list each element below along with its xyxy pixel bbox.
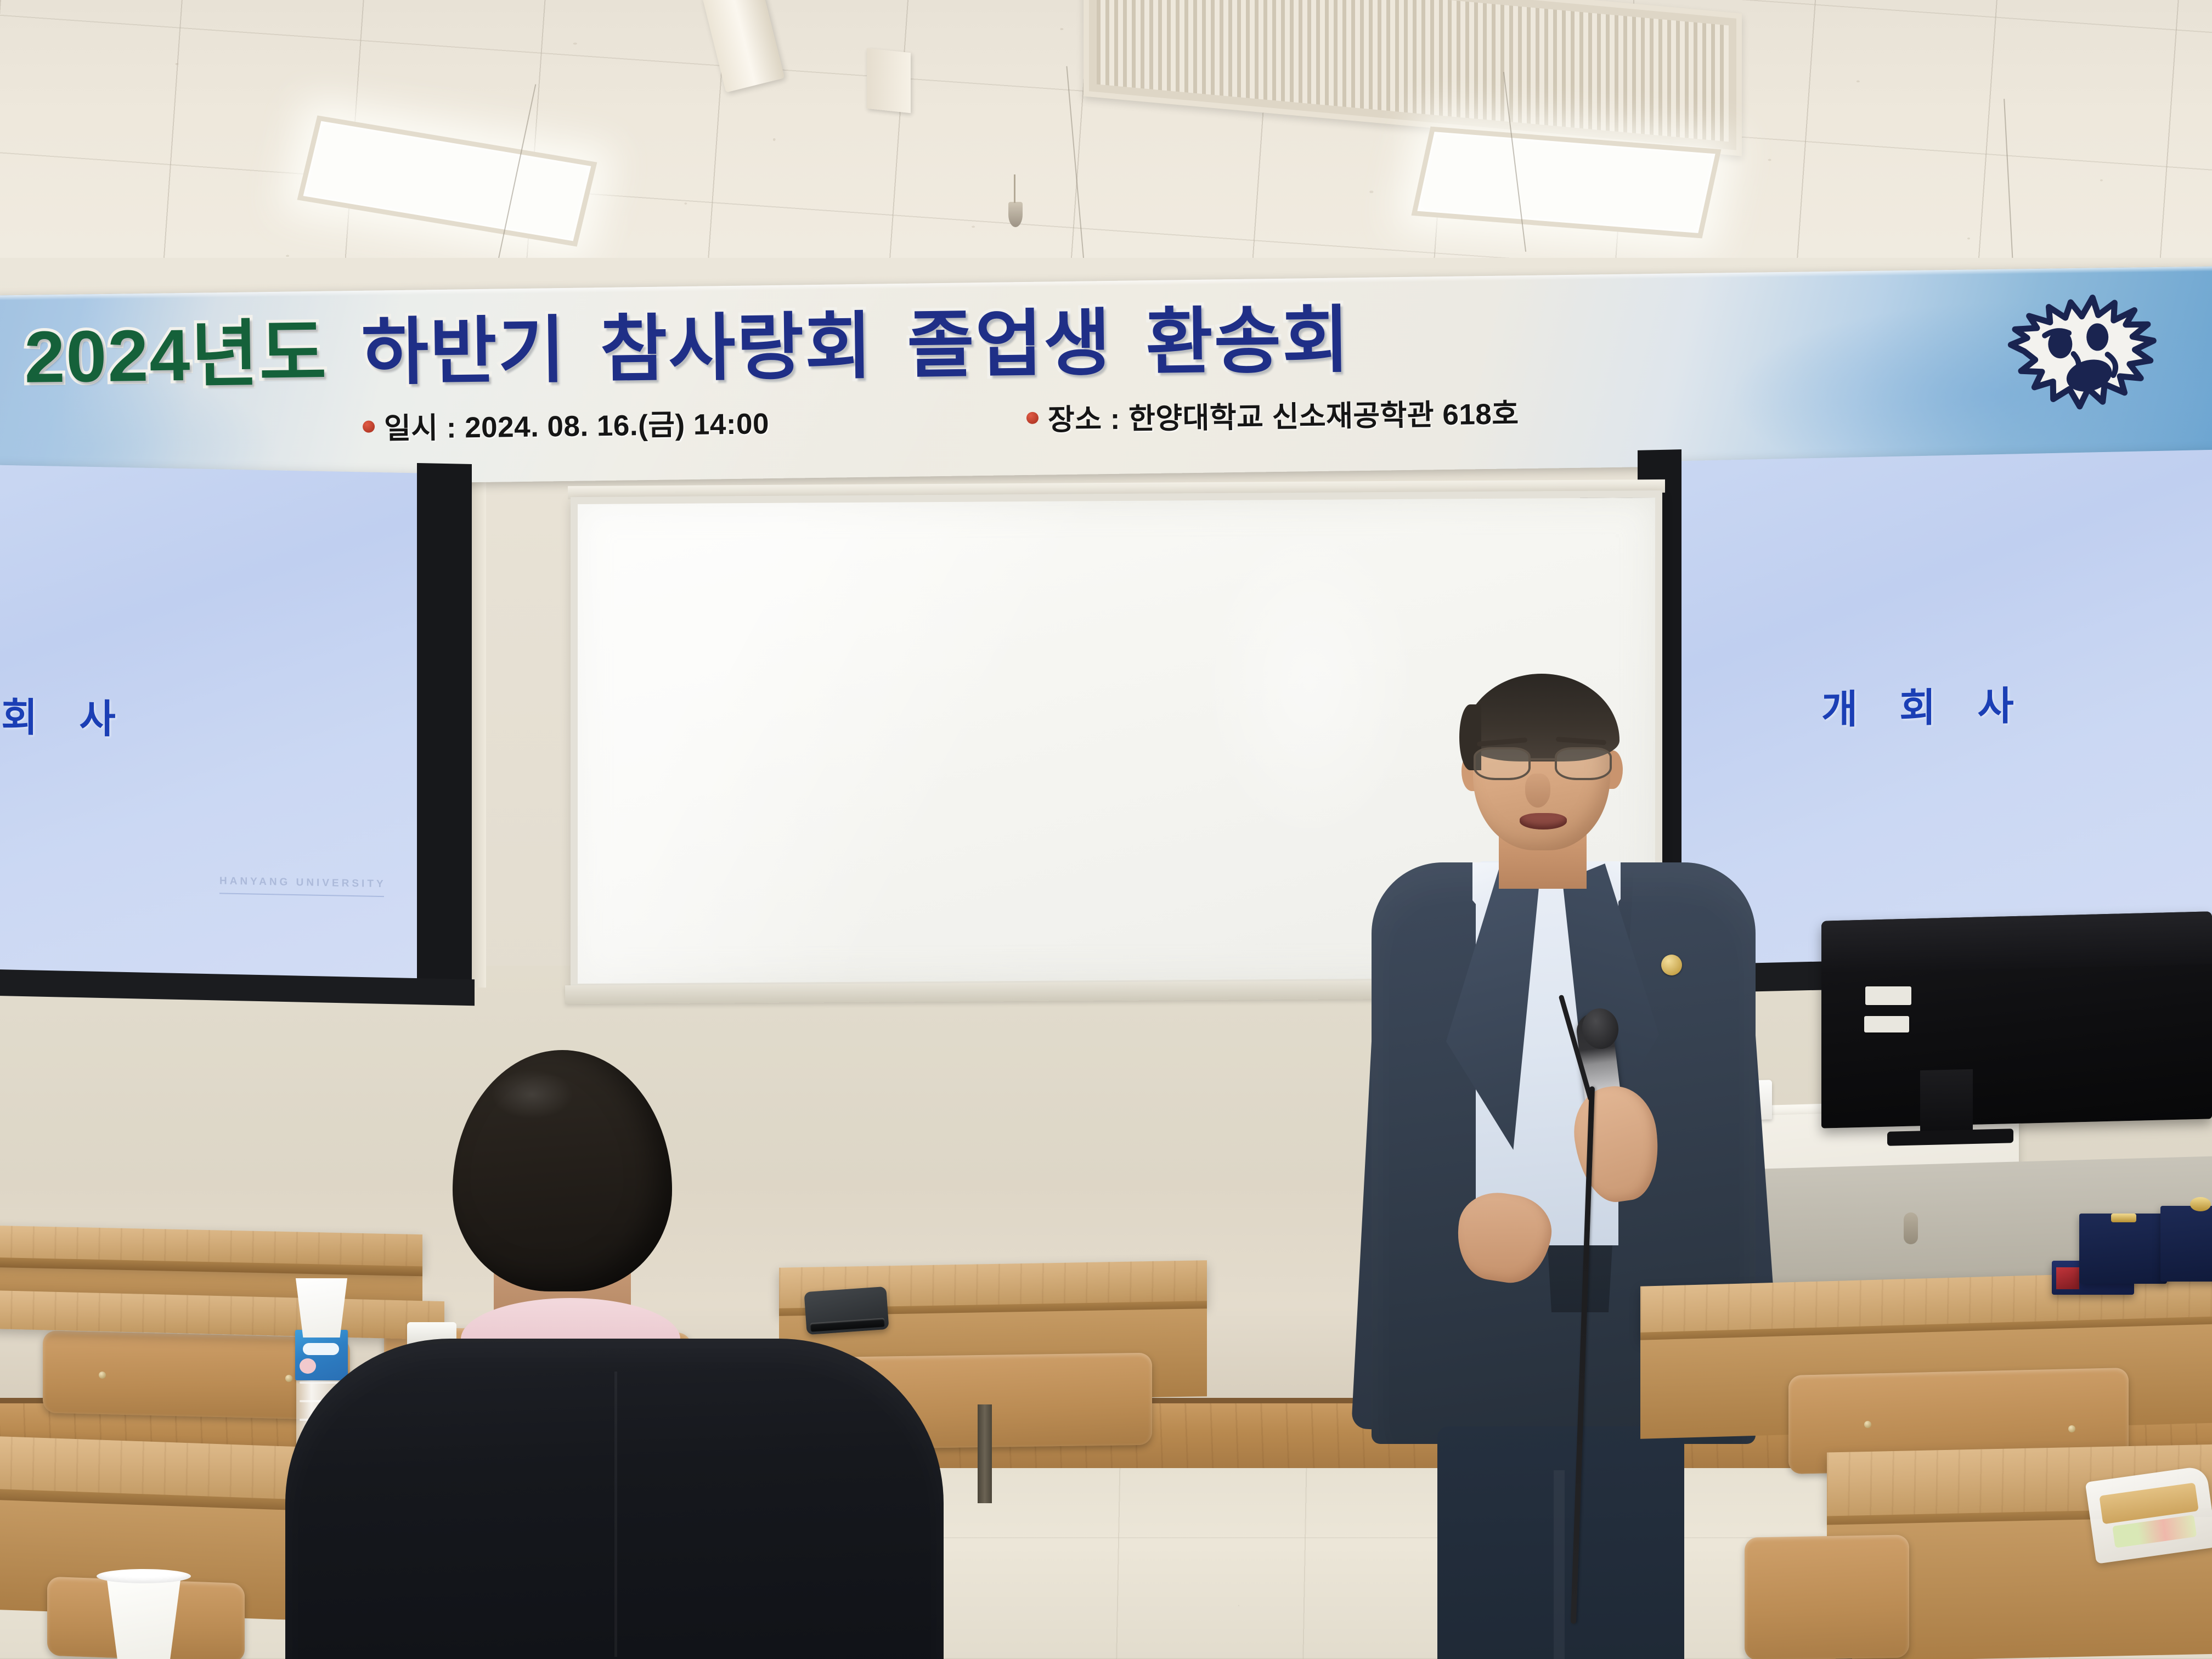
speaker-trousers [1437,1426,1684,1659]
banner-title-segment-group: 참사랑회 [600,311,873,387]
ceiling-junction-box [867,48,911,113]
wall-corner-edge [472,477,486,988]
bullet-icon [1026,412,1039,424]
award-plaque-case[interactable] [2079,1214,2167,1284]
attendee-head [453,1050,672,1291]
wall-vent [1904,1212,1918,1244]
eyeglass-bridge [1531,758,1555,760]
chair-screw [2068,1425,2075,1432]
banner-title-segment-half: 하반기 [361,314,567,390]
fire-sprinkler [1008,202,1023,227]
banner-title-segment-event: 환송회 [1145,304,1351,380]
banner-place-text: 장소 : 한양대학교 신소재공학관 618호 [1047,391,1519,438]
desk-leg [978,1404,992,1503]
slide-title-left: 개 회 사 [0,683,131,744]
slide-title-right: 개 회 사 [1821,673,2029,735]
award-plaque-gold-emblem [2190,1197,2211,1211]
monitor-label-sticker [1865,986,1911,1005]
bullet-icon [363,421,375,433]
seminar-room-photo: 2024년도 하반기 참사랑회 졸업생 환송회 [0,0,2212,1659]
chair-screw [99,1372,106,1379]
banner-title-segment-year: 2024년도 [24,318,328,394]
banner-title-segment-grads: 졸업생 [906,307,1112,383]
chair-backrest[interactable] [1745,1534,1909,1659]
ceiling [0,0,2212,291]
eyeglass-lens-right [1555,747,1612,780]
sandwich-pack[interactable] [2085,1465,2212,1564]
event-banner: 2024년도 하반기 참사랑회 졸업생 환송회 [0,266,2212,488]
banner-date-item: 일시 : 2024. 08. 16.(금) 14:00 [363,400,770,448]
eyeglass-lens-left [1474,747,1531,780]
seated-attendee [329,1042,949,1659]
banner-date-text: 일시 : 2024. 08. 16.(금) 14:00 [384,400,770,447]
award-plaque-red-interior [2056,1267,2079,1289]
speaker-mouth [1520,813,1567,830]
projection-screen-left-frame [417,463,472,983]
chair-screw [285,1375,292,1382]
award-plaque-gold-clasp [2111,1214,2136,1222]
monitor-label-sticker [1864,1016,1909,1032]
slide-underline-left [219,893,384,897]
award-plaque-case[interactable] [2160,1206,2212,1282]
chair-screw [1864,1421,1871,1428]
speaker-nose [1525,774,1550,808]
paper-cup-rim [97,1569,191,1583]
speaker-lapel-pin [1661,955,1682,975]
banner-place-item: 장소 : 한양대학교 신소재공학관 618호 [1026,391,1519,439]
projection-screen-left: 개 회 사 HANYANG UNIVERSITY [0,465,428,980]
speaker-person [1339,669,1788,1613]
attendee-jacket-seam [614,1372,617,1657]
slide-footer-left: HANYANG UNIVERSITY [219,875,386,890]
